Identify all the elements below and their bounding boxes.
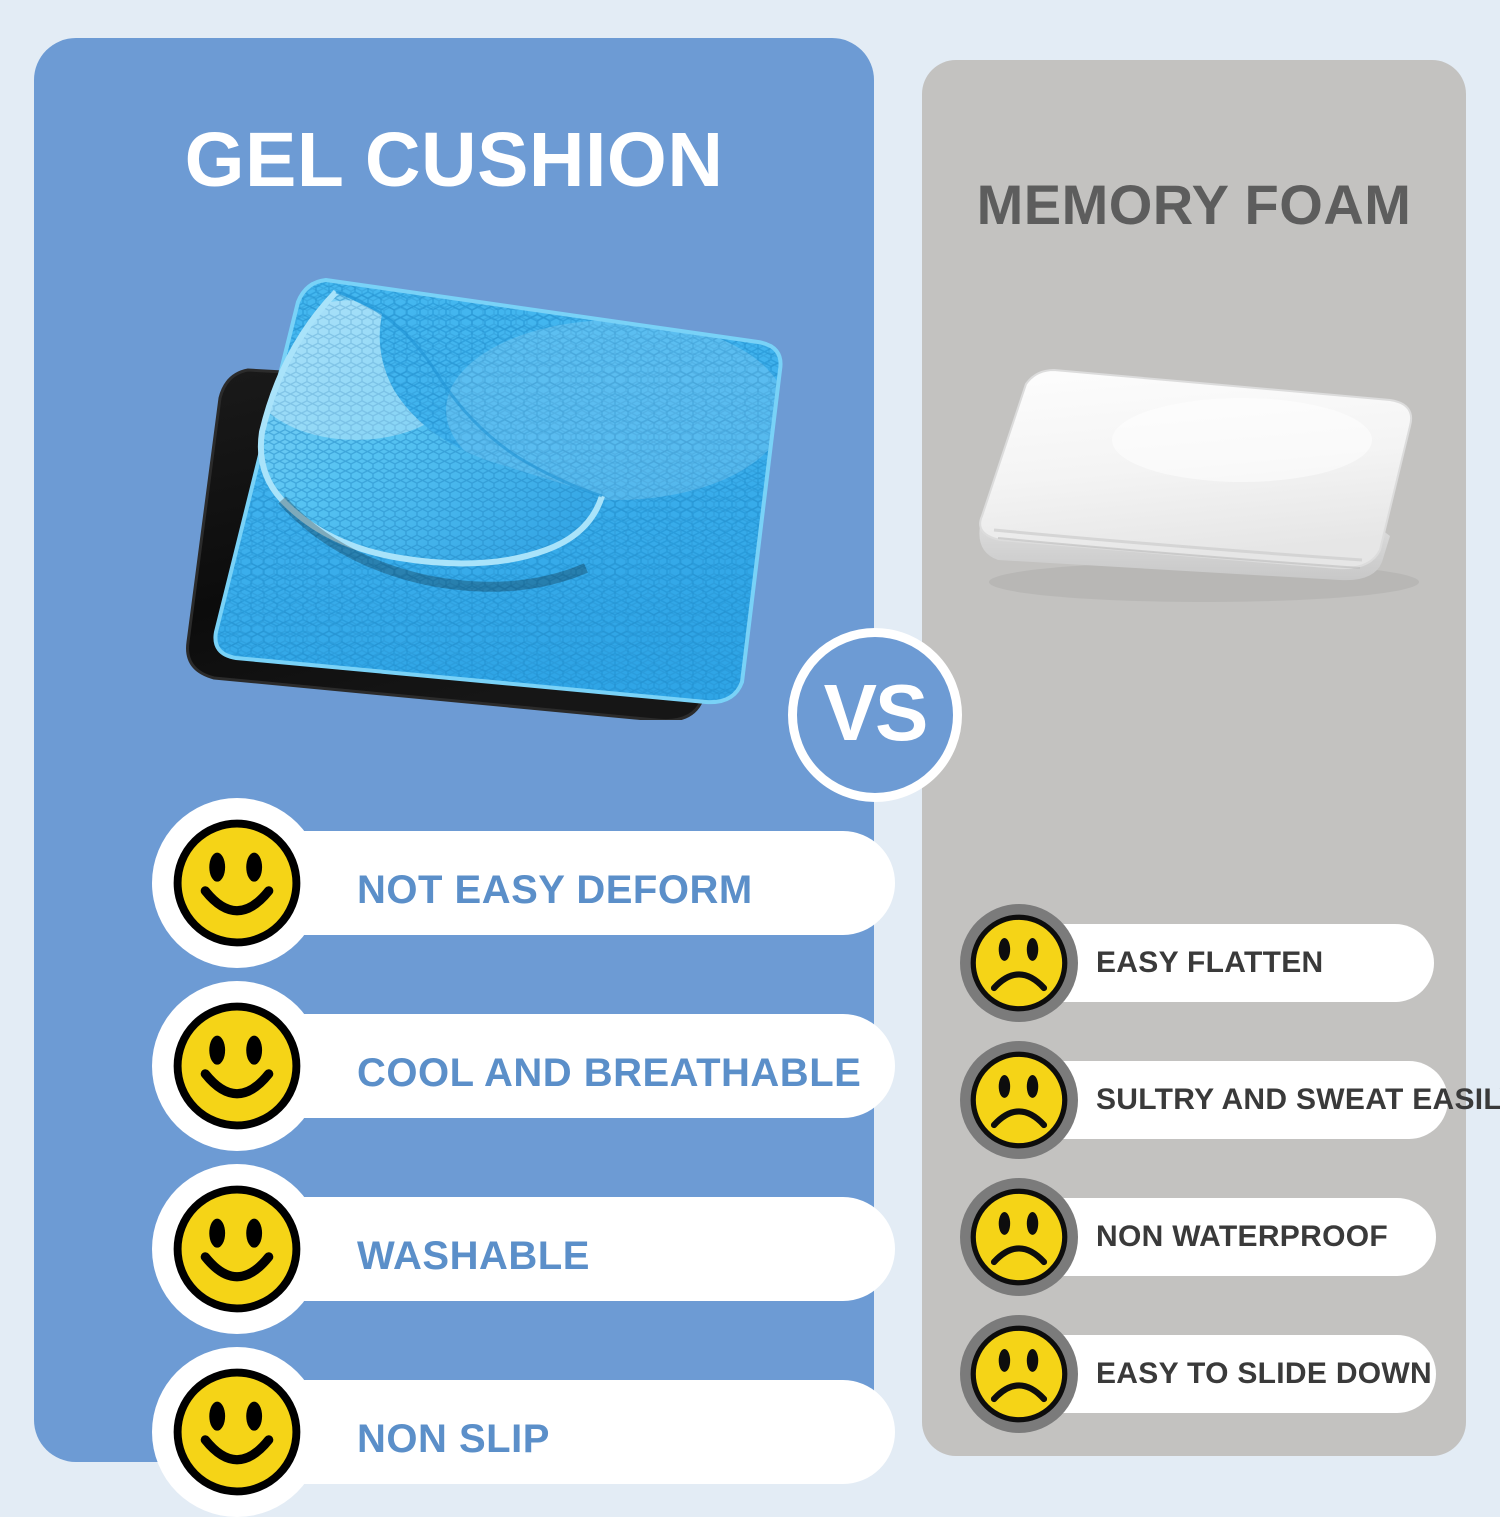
list-item[interactable]: EASY TO SLIDE DOWN	[960, 1315, 1440, 1433]
list-item[interactable]: EASY FLATTEN	[960, 904, 1440, 1022]
smiley-happy-icon	[152, 798, 322, 968]
list-item[interactable]: NON WATERPROOF	[960, 1178, 1440, 1296]
feature-label: NOT EASY DEFORM	[357, 870, 753, 910]
list-item[interactable]: NON SLIP	[152, 1347, 912, 1517]
feature-label: NON WATERPROOF	[1096, 1222, 1388, 1252]
infographic-canvas: GEL CUSHION	[0, 0, 1500, 1500]
list-item[interactable]: SULTRY AND SWEAT EASILY	[960, 1041, 1440, 1159]
list-item[interactable]: COOL AND BREATHABLE	[152, 981, 912, 1151]
smiley-happy-icon	[152, 1164, 322, 1334]
feature-label: NON SLIP	[357, 1419, 550, 1459]
vs-label: VS	[824, 673, 927, 753]
smiley-happy-icon	[152, 1347, 322, 1517]
list-item[interactable]: NOT EASY DEFORM	[152, 798, 912, 968]
smiley-sad-icon	[960, 1315, 1078, 1433]
feature-label: EASY TO SLIDE DOWN	[1096, 1359, 1432, 1389]
memory-foam-title: MEMORY FOAM	[922, 172, 1466, 237]
vs-badge: VS	[788, 628, 962, 802]
gel-cushion-title: GEL CUSHION	[34, 116, 874, 205]
feature-label: WASHABLE	[357, 1236, 590, 1276]
smiley-sad-icon	[960, 1041, 1078, 1159]
memory-foam-panel: MEMORY FOAM	[922, 60, 1466, 1456]
smiley-sad-icon	[960, 1178, 1078, 1296]
feature-label: EASY FLATTEN	[1096, 948, 1324, 978]
smiley-sad-icon	[960, 904, 1078, 1022]
gel-cushion-product-image	[186, 250, 786, 720]
list-item[interactable]: WASHABLE	[152, 1164, 912, 1334]
gel-cushion-panel: GEL CUSHION	[34, 38, 874, 1462]
feature-label: COOL AND BREATHABLE	[357, 1053, 861, 1093]
feature-label: SULTRY AND SWEAT EASILY	[1096, 1085, 1500, 1115]
memory-foam-product-image	[942, 330, 1452, 620]
smiley-happy-icon	[152, 981, 322, 1151]
